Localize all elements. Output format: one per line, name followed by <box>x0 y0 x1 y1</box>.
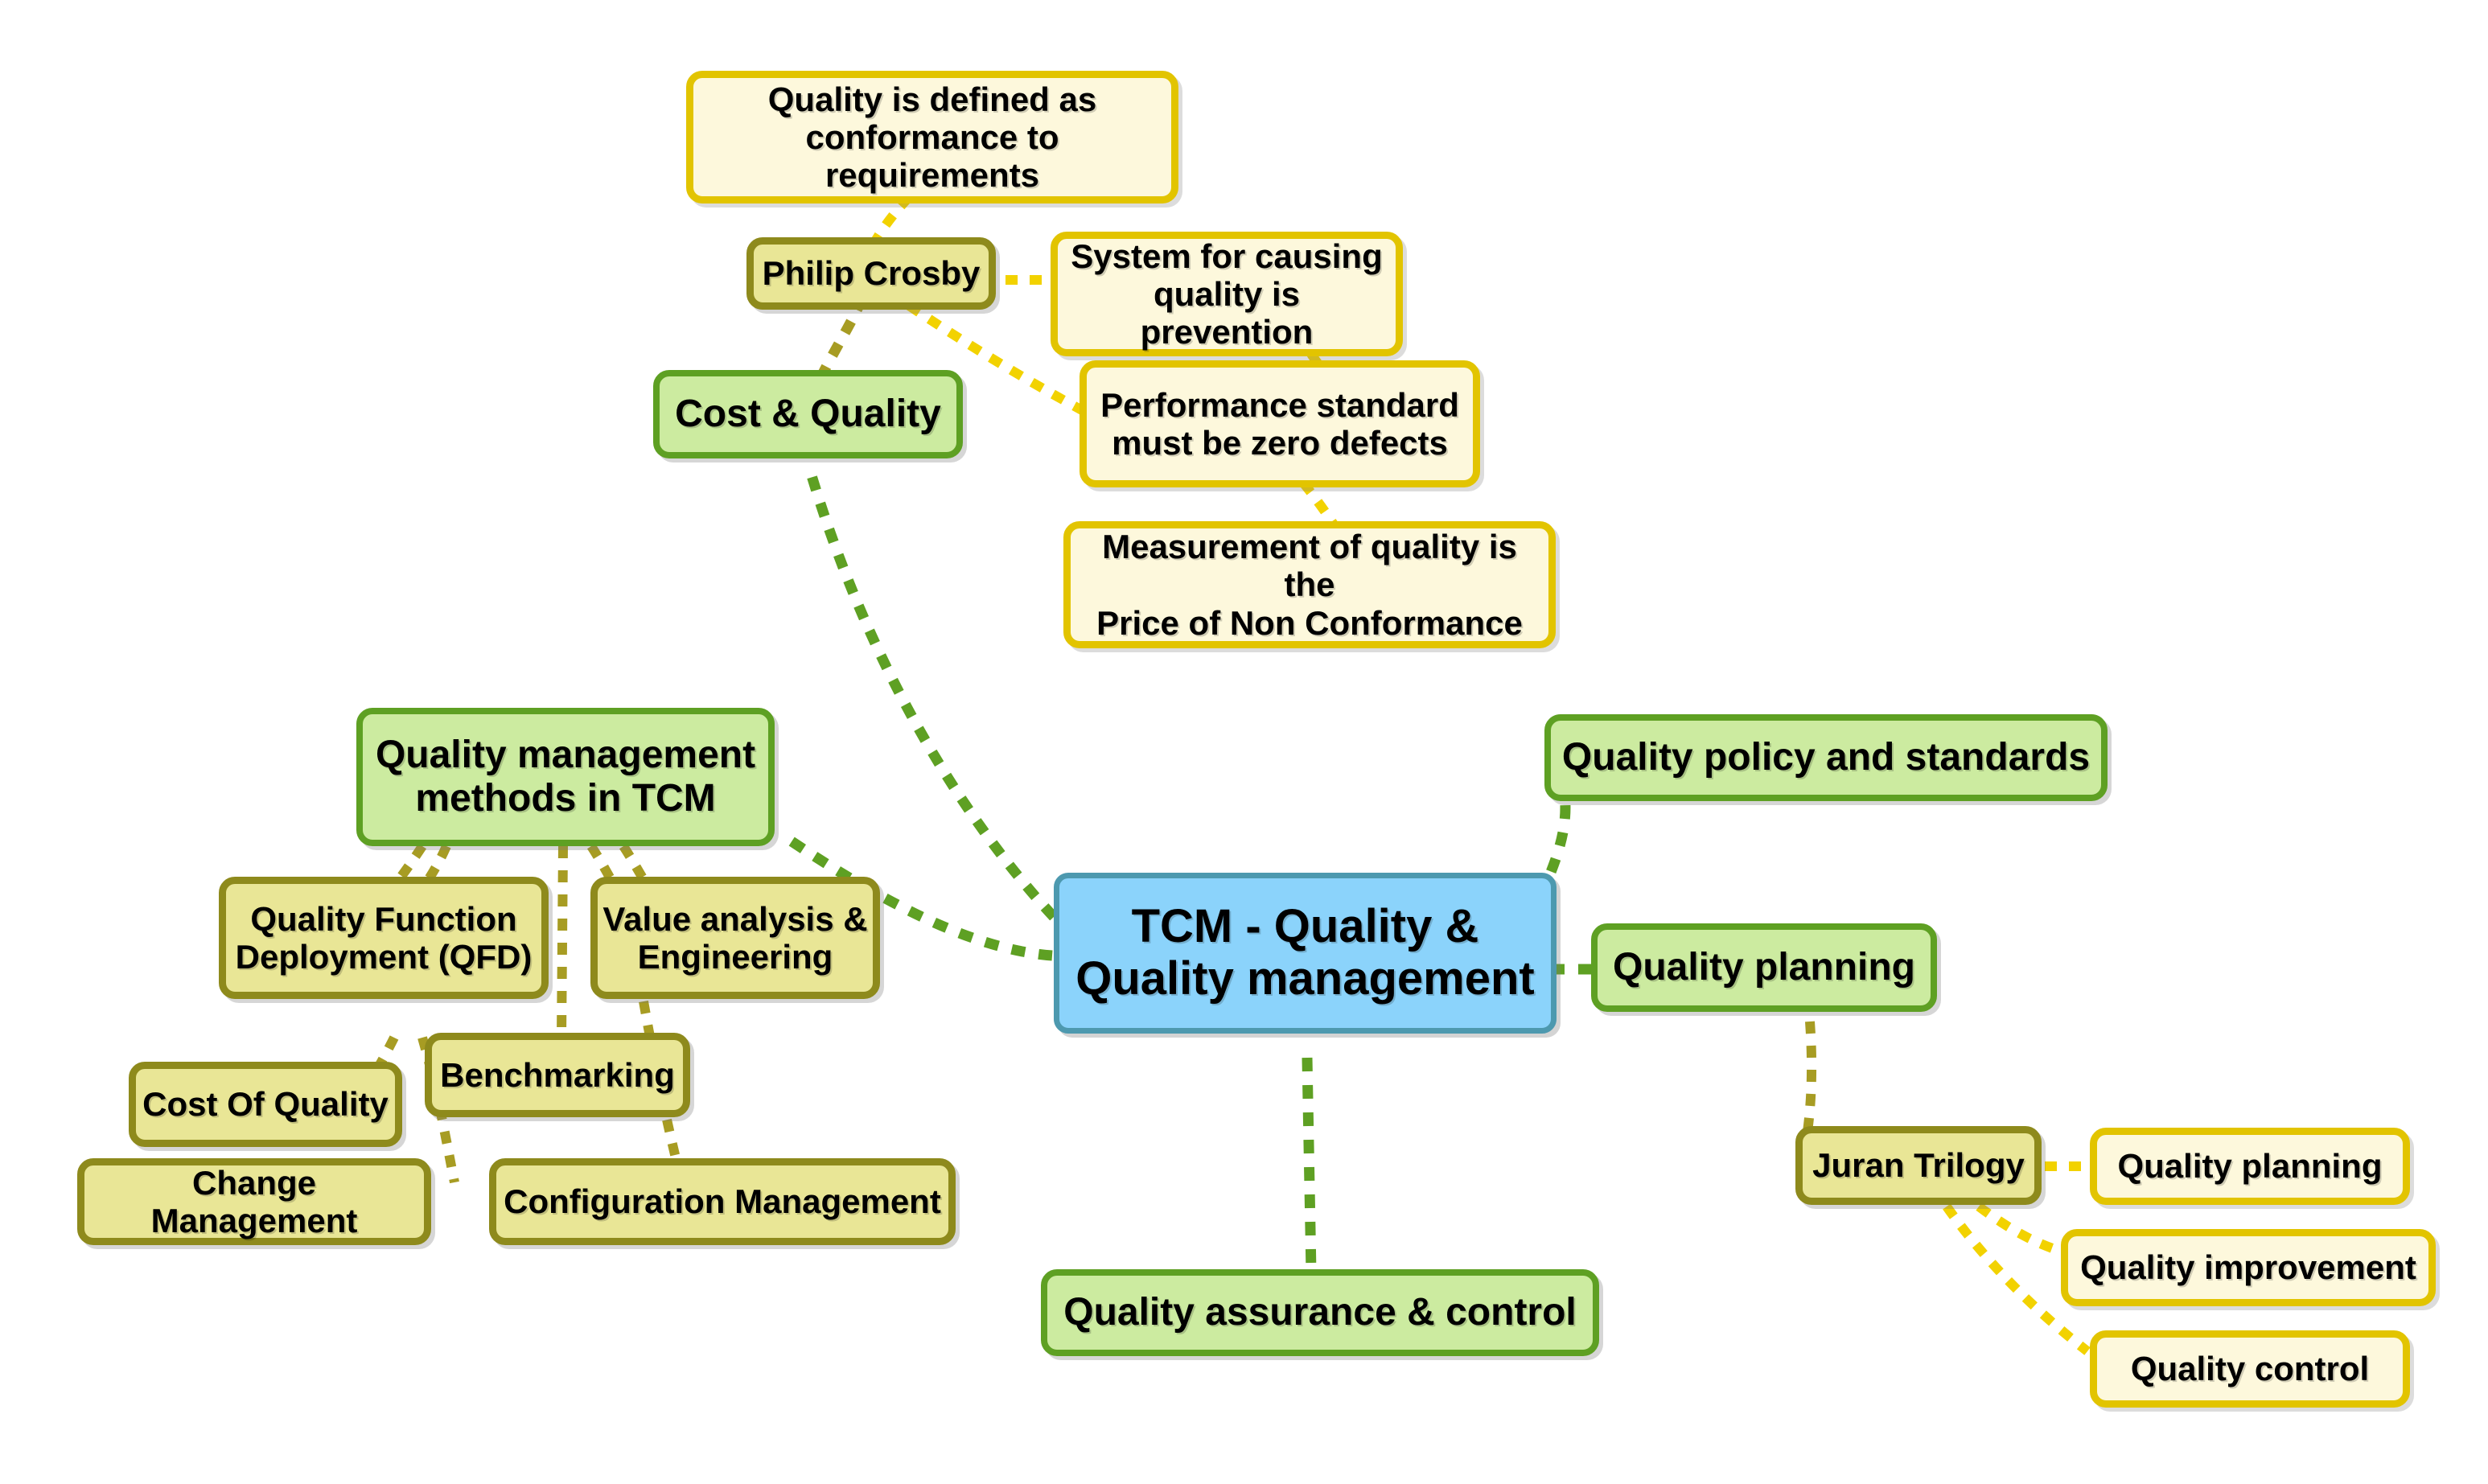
edge-qm-methods-benchmarking <box>561 846 563 1038</box>
node-quality-planning[interactable]: Quality planning <box>1591 923 1937 1012</box>
node-crosby-statement-2-label: System for causing quality is prevention <box>1058 237 1396 351</box>
mind-map-canvas: TCM - Quality & Quality management Cost … <box>0 0 2488 1484</box>
node-change-management[interactable]: Change Management <box>77 1158 431 1245</box>
node-quality-policy-label: Quality policy and standards <box>1557 736 2095 779</box>
node-qfd-label: Quality Function Deployment (QFD) <box>231 900 537 976</box>
node-juran-improvement[interactable]: Quality improvement <box>2061 1229 2436 1306</box>
node-quality-assurance-label: Quality assurance & control <box>1059 1291 1581 1334</box>
node-juran-planning[interactable]: Quality planning <box>2090 1128 2410 1205</box>
node-crosby-statement-3[interactable]: Performance standard must be zero defect… <box>1080 360 1480 487</box>
edge-juran-improvement <box>1979 1207 2059 1251</box>
node-change-management-label: Change Management <box>84 1164 424 1239</box>
node-crosby-statement-1-label: Quality is defined as conformance to req… <box>693 80 1171 194</box>
node-philip-crosby[interactable]: Philip Crosby <box>746 237 996 310</box>
node-quality-planning-label: Quality planning <box>1608 946 1920 989</box>
node-juran-improvement-label: Quality improvement <box>2075 1248 2421 1286</box>
node-crosby-statement-1[interactable]: Quality is defined as conformance to req… <box>686 71 1178 203</box>
node-cost-quality-label: Cost & Quality <box>670 393 946 436</box>
node-qfd[interactable]: Quality Function Deployment (QFD) <box>219 877 549 999</box>
node-configuration-management-label: Configuration Management <box>499 1182 946 1220</box>
node-qm-methods-label: Quality management methods in TCM <box>371 734 760 820</box>
edge-cost-quality-philip-crosby <box>820 298 862 378</box>
node-crosby-statement-3-label: Performance standard must be zero defect… <box>1096 386 1464 462</box>
node-philip-crosby-label: Philip Crosby <box>758 254 985 292</box>
node-root[interactable]: TCM - Quality & Quality management <box>1054 873 1557 1034</box>
edge-statement-3-to-4 <box>1303 483 1335 527</box>
node-cost-of-quality-label: Cost Of Quality <box>138 1085 393 1123</box>
node-cost-of-quality[interactable]: Cost Of Quality <box>129 1062 402 1147</box>
node-cost-quality[interactable]: Cost & Quality <box>653 370 963 458</box>
node-value-analysis[interactable]: Value analysis & Engineering <box>590 877 880 999</box>
node-quality-assurance[interactable]: Quality assurance & control <box>1041 1269 1599 1356</box>
node-crosby-statement-2[interactable]: System for causing quality is prevention <box>1051 232 1403 356</box>
node-configuration-management[interactable]: Configuration Management <box>489 1158 956 1245</box>
node-benchmarking-label: Benchmarking <box>435 1056 680 1094</box>
node-juran-planning-label: Quality planning <box>2112 1147 2387 1185</box>
node-crosby-statement-4[interactable]: Measurement of quality is the Price of N… <box>1063 521 1556 648</box>
node-root-label: TCM - Quality & Quality management <box>1071 901 1539 1005</box>
node-benchmarking[interactable]: Benchmarking <box>425 1033 690 1117</box>
node-crosby-statement-4-label: Measurement of quality is the Price of N… <box>1071 528 1548 641</box>
node-juran-control-label: Quality control <box>2126 1350 2374 1387</box>
node-quality-policy[interactable]: Quality policy and standards <box>1544 714 2108 801</box>
edge-quality-planning-juran <box>1806 1022 1812 1142</box>
node-value-analysis-label: Value analysis & Engineering <box>598 900 872 976</box>
node-juran-trilogy-label: Juran Trilogy <box>1807 1146 2029 1184</box>
edge-root-quality-assurance <box>1307 1058 1311 1272</box>
node-qm-methods[interactable]: Quality management methods in TCM <box>356 708 775 846</box>
node-juran-control[interactable]: Quality control <box>2090 1330 2410 1408</box>
node-juran-trilogy[interactable]: Juran Trilogy <box>1795 1126 2042 1205</box>
edge-root-cost-quality <box>808 465 1054 917</box>
